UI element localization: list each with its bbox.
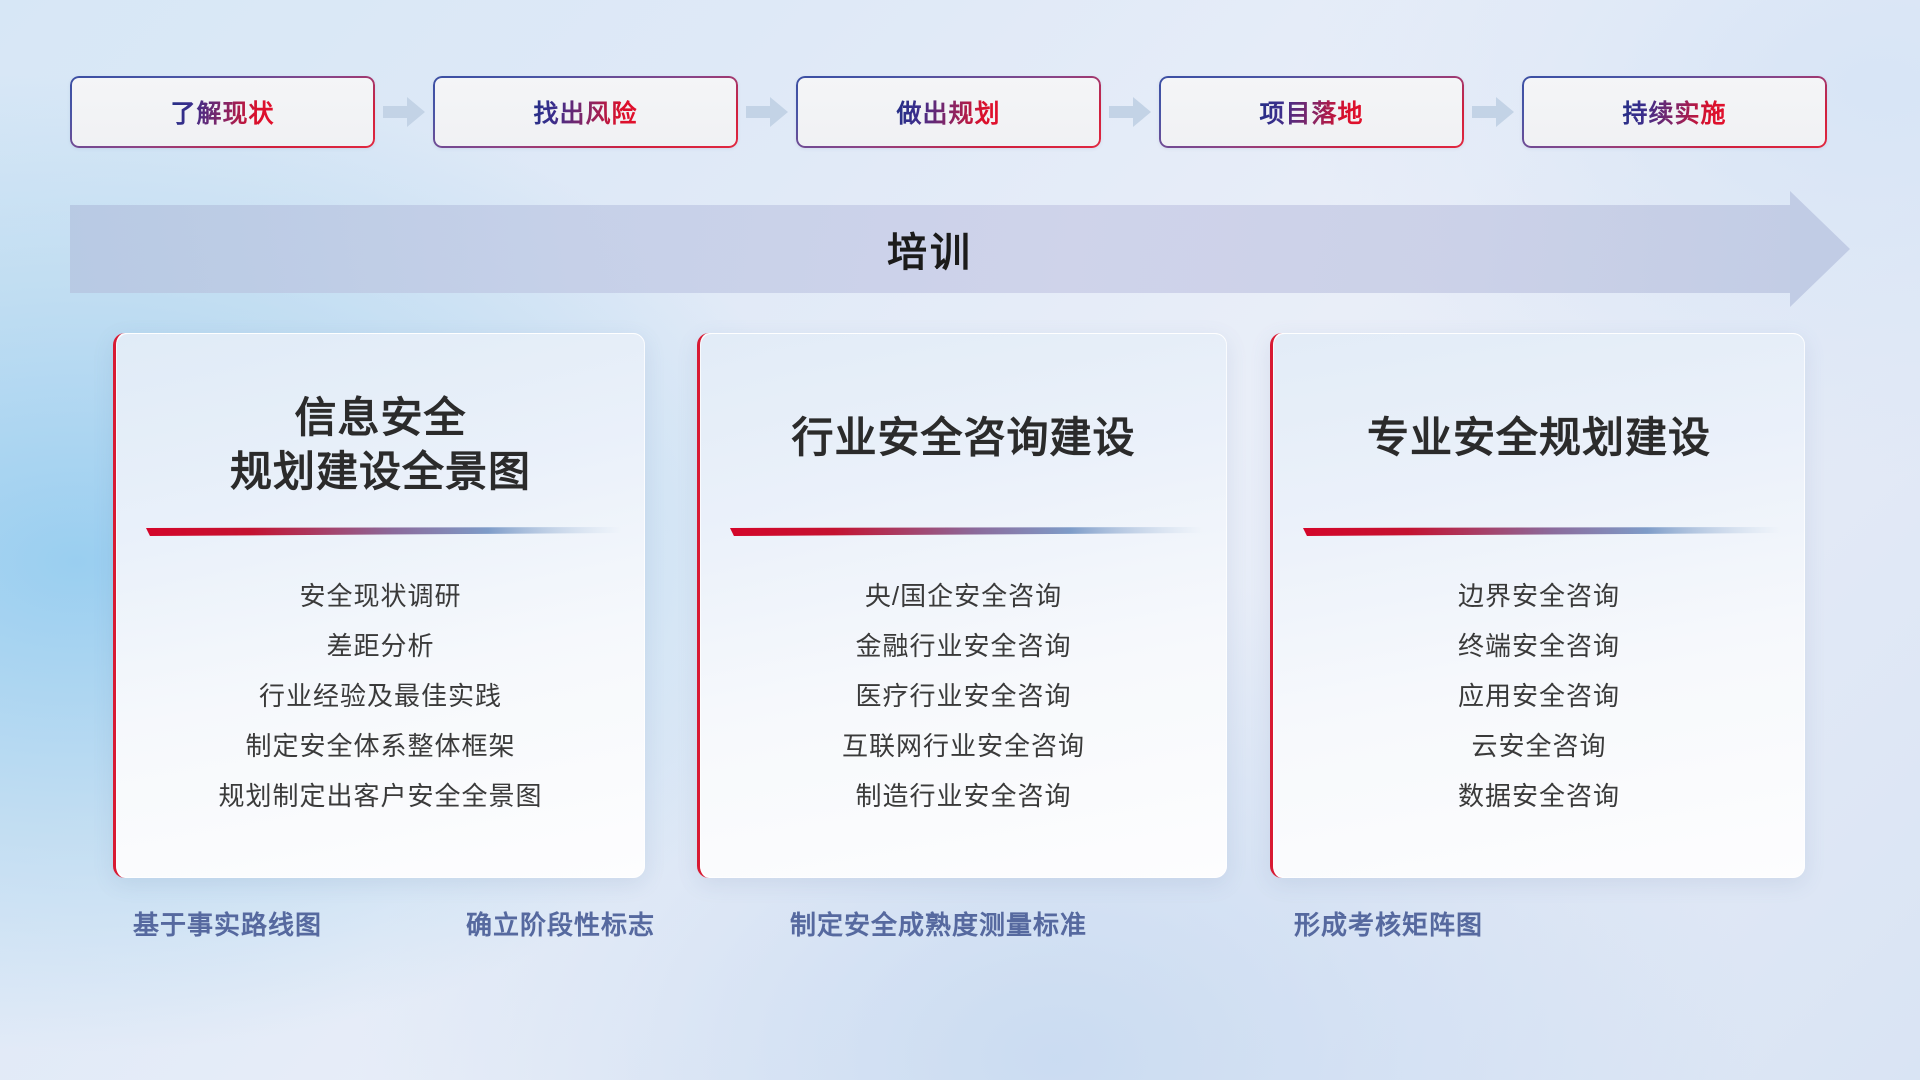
caption-maturity-standard: 制定安全成熟度测量标准 bbox=[790, 905, 1087, 942]
step-label-1: 了解现状 bbox=[170, 94, 274, 130]
slide-canvas: 了解现状 找出风险 做出规划 项目落地 bbox=[0, 0, 1920, 1080]
caption-milestone: 确立阶段性标志 bbox=[466, 905, 655, 942]
step-label-3: 做出规划 bbox=[896, 94, 1000, 130]
list-item: 央/国企安全咨询 bbox=[700, 571, 1227, 621]
list-item: 制造行业安全咨询 bbox=[700, 771, 1227, 821]
step-box-2[interactable]: 找出风险 bbox=[433, 76, 738, 148]
list-item: 边界安全咨询 bbox=[1273, 571, 1805, 621]
step-box-4[interactable]: 项目落地 bbox=[1159, 76, 1464, 148]
card-title: 信息安全 规划建设全景图 bbox=[116, 391, 645, 499]
step-label-5: 持续实施 bbox=[1622, 94, 1726, 130]
card-divider bbox=[146, 526, 621, 538]
card-item-list: 央/国企安全咨询 金融行业安全咨询 医疗行业安全咨询 互联网行业安全咨询 制造行… bbox=[700, 571, 1227, 821]
list-item: 数据安全咨询 bbox=[1273, 771, 1805, 821]
process-step-flow: 了解现状 找出风险 做出规划 项目落地 bbox=[70, 76, 1850, 148]
card-divider bbox=[730, 526, 1203, 538]
arrow-right-icon bbox=[375, 76, 433, 148]
card-industry-security-consulting[interactable]: 行业安全咨询建设 央/国企安全咨询 bbox=[697, 333, 1227, 878]
list-item: 云安全咨询 bbox=[1273, 721, 1805, 771]
training-banner: 培训 bbox=[70, 205, 1850, 293]
step-wrap-3: 项目落地 bbox=[1159, 76, 1522, 148]
list-item: 互联网行业安全咨询 bbox=[700, 721, 1227, 771]
arrow-right-icon bbox=[1464, 76, 1522, 148]
step-wrap-2: 做出规划 bbox=[796, 76, 1159, 148]
card-title: 专业安全规划建设 bbox=[1273, 411, 1805, 465]
step-wrap-1: 找出风险 bbox=[433, 76, 796, 148]
caption-roadmap: 基于事实路线图 bbox=[133, 905, 322, 942]
banner-title: 培训 bbox=[70, 205, 1850, 293]
card-divider bbox=[1303, 526, 1781, 538]
list-item: 医疗行业安全咨询 bbox=[700, 671, 1227, 721]
caption-assessment-matrix: 形成考核矩阵图 bbox=[1294, 905, 1483, 942]
list-item: 金融行业安全咨询 bbox=[700, 621, 1227, 671]
step-box-5[interactable]: 持续实施 bbox=[1522, 76, 1827, 148]
card-group: 信息安全 规划建设全景图 安全现状调研 bbox=[0, 333, 1920, 878]
caption-row: 基于事实路线图 确立阶段性标志 制定安全成熟度测量标准 形成考核矩阵图 bbox=[0, 905, 1920, 965]
step-box-3[interactable]: 做出规划 bbox=[796, 76, 1101, 148]
card-item-list: 边界安全咨询 终端安全咨询 应用安全咨询 云安全咨询 数据安全咨询 bbox=[1273, 571, 1805, 821]
list-item: 安全现状调研 bbox=[116, 571, 645, 621]
step-box-1[interactable]: 了解现状 bbox=[70, 76, 375, 148]
step-label-4: 项目落地 bbox=[1259, 94, 1363, 130]
list-item: 终端安全咨询 bbox=[1273, 621, 1805, 671]
list-item: 制定安全体系整体框架 bbox=[116, 721, 645, 771]
list-item: 差距分析 bbox=[116, 621, 645, 671]
list-item: 行业经验及最佳实践 bbox=[116, 671, 645, 721]
step-wrap-4: 持续实施 bbox=[1522, 76, 1827, 148]
list-item: 应用安全咨询 bbox=[1273, 671, 1805, 721]
arrow-right-icon bbox=[1101, 76, 1159, 148]
card-item-list: 安全现状调研 差距分析 行业经验及最佳实践 制定安全体系整体框架 规划制定出客户… bbox=[116, 571, 645, 821]
step-label-2: 找出风险 bbox=[533, 94, 637, 130]
list-item: 规划制定出客户安全全景图 bbox=[116, 771, 645, 821]
step-wrap-0: 了解现状 bbox=[70, 76, 433, 148]
card-title: 行业安全咨询建设 bbox=[700, 411, 1227, 465]
arrow-right-icon bbox=[738, 76, 796, 148]
card-professional-security-planning[interactable]: 专业安全规划建设 边界安全咨询 bbox=[1270, 333, 1805, 878]
card-information-security-panorama[interactable]: 信息安全 规划建设全景图 安全现状调研 bbox=[113, 333, 645, 878]
